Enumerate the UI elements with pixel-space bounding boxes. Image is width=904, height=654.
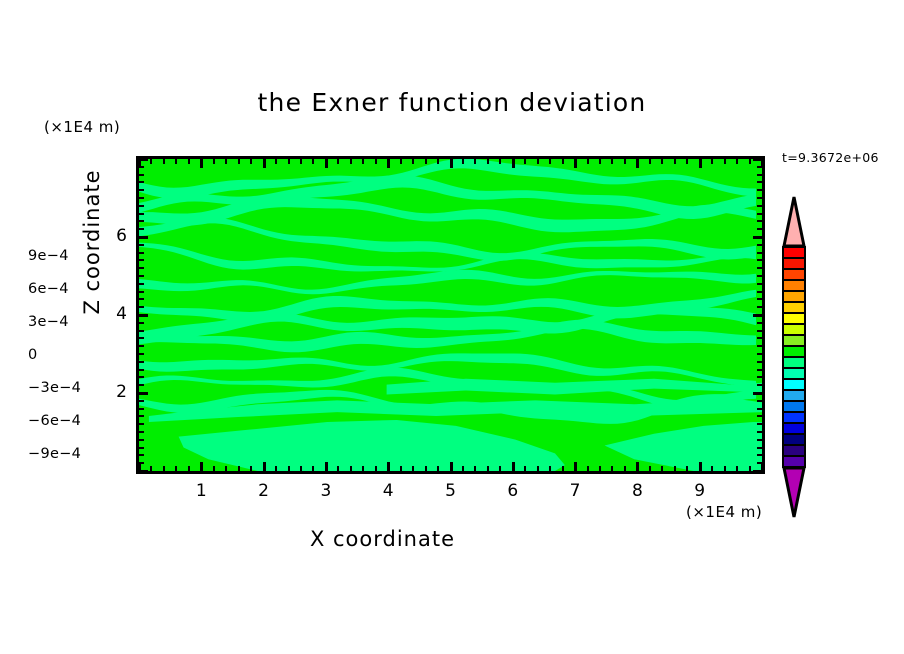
y-tick-mark (139, 392, 148, 395)
y-tick-mark (139, 470, 148, 473)
y-tick-mark (139, 462, 144, 464)
x-tick-mark (288, 159, 290, 164)
colorbar-tick-label: 3e−4 (28, 314, 69, 330)
x-tick-mark (674, 466, 676, 471)
x-tick-mark (163, 466, 165, 471)
x-tick-mark (462, 466, 464, 471)
x-tick-mark (487, 159, 489, 164)
x-tick-label: 3 (311, 481, 341, 501)
x-tick-label: 9 (685, 481, 715, 501)
x-tick-mark (562, 159, 564, 164)
colorbar-tick-label: −6e−4 (28, 413, 81, 429)
x-tick-mark (574, 462, 577, 471)
x-axis-unit-label: (×1E4 m) (686, 503, 762, 521)
y-tick-mark (139, 345, 144, 347)
x-tick-mark (412, 466, 414, 471)
x-axis-title: X coordinate (0, 527, 765, 551)
y-tick-mark (139, 228, 144, 230)
x-tick-label: 6 (498, 481, 528, 501)
colorbar-divider (782, 433, 806, 435)
x-tick-mark (387, 159, 390, 168)
x-tick-mark (711, 159, 713, 164)
x-tick-mark (474, 466, 476, 471)
y-tick-mark (757, 174, 762, 176)
x-tick-mark (238, 159, 240, 164)
y-tick-mark (757, 462, 762, 464)
x-tick-mark (387, 462, 390, 471)
x-tick-mark (450, 462, 453, 471)
x-tick-mark (337, 159, 339, 164)
x-tick-mark (362, 159, 364, 164)
x-tick-mark (412, 159, 414, 164)
colorbar-divider (782, 290, 806, 292)
y-tick-mark (753, 314, 762, 317)
colorbar-tick-label: 9e−4 (28, 248, 69, 264)
x-tick-mark (724, 159, 726, 164)
x-tick-mark (437, 159, 439, 164)
y-tick-mark (757, 415, 762, 417)
x-tick-label: 5 (436, 481, 466, 501)
colorbar-divider (782, 268, 806, 270)
colorbar-divider (782, 301, 806, 303)
y-tick-mark (757, 181, 762, 183)
colorbar (782, 247, 806, 467)
x-tick-mark (188, 159, 190, 164)
y-tick-mark (139, 252, 144, 254)
contour-plot-area (136, 156, 765, 474)
x-tick-mark (250, 159, 252, 164)
colorbar-divider (782, 312, 806, 314)
x-tick-mark (537, 159, 539, 164)
colorbar-over-arrow (782, 195, 806, 247)
y-tick-mark (757, 283, 762, 285)
x-tick-mark (225, 159, 227, 164)
y-tick-mark (757, 376, 762, 378)
y-tick-mark (757, 220, 762, 222)
y-tick-mark (757, 454, 762, 456)
y-tick-mark (139, 322, 144, 324)
y-tick-mark (139, 291, 144, 293)
x-tick-mark (674, 159, 676, 164)
x-tick-mark (400, 159, 402, 164)
colorbar-divider (782, 279, 806, 281)
y-tick-mark (139, 447, 144, 449)
colorbar-divider (782, 400, 806, 402)
x-tick-mark (549, 159, 551, 164)
x-tick-label: 8 (622, 481, 652, 501)
y-tick-mark (139, 423, 144, 425)
colorbar-divider (782, 389, 806, 391)
contour-field (139, 159, 762, 471)
x-tick-mark (562, 466, 564, 471)
x-tick-mark (686, 466, 688, 471)
y-tick-mark (139, 259, 144, 261)
x-tick-mark (275, 466, 277, 471)
x-tick-mark (524, 466, 526, 471)
x-tick-mark (312, 466, 314, 471)
x-tick-mark (263, 159, 266, 168)
x-tick-mark (375, 466, 377, 471)
x-tick-mark (661, 466, 663, 471)
x-tick-mark (487, 466, 489, 471)
x-tick-mark (213, 466, 215, 471)
colorbar-tick-label: −3e−4 (28, 380, 81, 396)
x-tick-mark (462, 159, 464, 164)
x-tick-mark (524, 159, 526, 164)
y-tick-mark (139, 275, 144, 277)
y-tick-mark (757, 345, 762, 347)
x-tick-mark (587, 466, 589, 471)
y-tick-mark (139, 369, 144, 371)
y-tick-mark (757, 197, 762, 199)
y-tick-mark (139, 314, 148, 317)
x-tick-mark (649, 159, 651, 164)
y-tick-mark (757, 431, 762, 433)
timestamp-annotation: t=9.3672e+06 (782, 150, 879, 165)
y-tick-mark (757, 408, 762, 410)
y-tick-label: 6 (97, 226, 127, 246)
x-tick-mark (636, 462, 639, 471)
x-tick-mark (150, 466, 152, 471)
x-tick-mark (474, 159, 476, 164)
x-tick-mark (350, 466, 352, 471)
y-tick-mark (757, 189, 762, 191)
x-tick-mark (163, 159, 165, 164)
y-tick-mark (757, 361, 762, 363)
y-tick-mark (139, 197, 144, 199)
x-tick-mark (437, 466, 439, 471)
y-tick-mark (139, 415, 144, 417)
x-tick-mark (300, 466, 302, 471)
x-tick-mark (200, 159, 203, 168)
x-tick-mark (325, 159, 328, 168)
y-tick-mark (139, 439, 144, 441)
y-tick-mark (139, 283, 144, 285)
colorbar-divider (782, 444, 806, 446)
x-tick-mark (225, 466, 227, 471)
y-tick-mark (757, 252, 762, 254)
y-tick-mark (757, 384, 762, 386)
y-tick-mark (139, 236, 148, 239)
x-tick-mark (425, 466, 427, 471)
x-tick-mark (686, 159, 688, 164)
y-tick-mark (757, 439, 762, 441)
y-tick-mark (757, 447, 762, 449)
x-tick-mark (300, 159, 302, 164)
y-tick-mark (139, 166, 144, 168)
x-tick-mark (699, 159, 702, 168)
x-tick-mark (711, 466, 713, 471)
colorbar-divider (782, 378, 806, 380)
y-tick-mark (753, 392, 762, 395)
x-tick-mark (450, 159, 453, 168)
y-tick-mark (757, 306, 762, 308)
x-tick-mark (661, 159, 663, 164)
y-axis-unit-label: (×1E4 m) (44, 118, 120, 136)
x-tick-mark (200, 462, 203, 471)
y-tick-label: 4 (97, 304, 127, 324)
y-tick-mark (757, 267, 762, 269)
y-tick-mark (139, 174, 144, 176)
y-tick-mark (753, 470, 762, 473)
x-tick-mark (611, 466, 613, 471)
x-tick-label: 7 (560, 481, 590, 501)
y-tick-mark (757, 400, 762, 402)
x-tick-mark (599, 466, 601, 471)
y-tick-mark (753, 158, 762, 161)
x-tick-mark (188, 466, 190, 471)
x-tick-mark (724, 466, 726, 471)
y-tick-mark (757, 423, 762, 425)
colorbar-tick-label: −9e−4 (28, 446, 81, 462)
x-tick-mark (537, 466, 539, 471)
colorbar-divider (782, 422, 806, 424)
y-tick-mark (139, 306, 144, 308)
y-tick-mark (757, 259, 762, 261)
y-tick-mark (757, 213, 762, 215)
x-tick-mark (350, 159, 352, 164)
x-tick-mark (587, 159, 589, 164)
x-tick-mark (512, 462, 515, 471)
colorbar-tick-label: 6e−4 (28, 281, 69, 297)
y-tick-mark (139, 353, 144, 355)
chart-title: the Exner function deviation (0, 88, 904, 117)
y-tick-mark (757, 166, 762, 168)
figure-canvas: the Exner function deviation (×1E4 m) (×… (0, 0, 904, 654)
y-tick-mark (139, 431, 144, 433)
x-tick-mark (624, 159, 626, 164)
y-tick-mark (139, 213, 144, 215)
x-tick-mark (312, 159, 314, 164)
colorbar-divider (782, 411, 806, 413)
y-tick-mark (757, 322, 762, 324)
x-tick-mark (337, 466, 339, 471)
x-tick-mark (499, 159, 501, 164)
x-tick-mark (611, 159, 613, 164)
x-tick-label: 2 (249, 481, 279, 501)
y-tick-mark (139, 205, 144, 207)
y-tick-mark (139, 337, 144, 339)
y-tick-mark (757, 330, 762, 332)
x-tick-mark (749, 159, 751, 164)
y-tick-mark (757, 244, 762, 246)
x-tick-mark (736, 466, 738, 471)
x-tick-mark (749, 466, 751, 471)
y-tick-mark (139, 361, 144, 363)
x-tick-mark (150, 159, 152, 164)
y-tick-mark (757, 275, 762, 277)
x-tick-mark (238, 466, 240, 471)
x-tick-mark (512, 159, 515, 168)
x-tick-mark (175, 466, 177, 471)
x-tick-mark (263, 462, 266, 471)
colorbar-divider (782, 455, 806, 457)
x-tick-mark (288, 466, 290, 471)
y-tick-mark (139, 220, 144, 222)
x-tick-label: 1 (186, 481, 216, 501)
y-tick-label: 2 (97, 382, 127, 402)
y-tick-mark (139, 454, 144, 456)
y-tick-mark (753, 236, 762, 239)
x-tick-mark (375, 159, 377, 164)
x-tick-mark (649, 466, 651, 471)
colorbar-divider (782, 356, 806, 358)
x-tick-mark (400, 466, 402, 471)
y-tick-mark (139, 158, 148, 161)
y-tick-mark (757, 205, 762, 207)
y-tick-mark (139, 400, 144, 402)
x-tick-label: 4 (373, 481, 403, 501)
y-tick-mark (757, 291, 762, 293)
colorbar-divider (782, 257, 806, 259)
y-tick-mark (757, 337, 762, 339)
y-tick-mark (139, 384, 144, 386)
x-tick-mark (599, 159, 601, 164)
colorbar-divider (782, 345, 806, 347)
y-tick-mark (139, 298, 144, 300)
y-tick-mark (757, 228, 762, 230)
x-tick-mark (362, 466, 364, 471)
y-tick-mark (139, 189, 144, 191)
y-tick-mark (757, 298, 762, 300)
colorbar-divider (782, 334, 806, 336)
x-tick-mark (250, 466, 252, 471)
colorbar-tick-label: 0 (28, 347, 38, 363)
x-tick-mark (499, 466, 501, 471)
y-tick-mark (757, 369, 762, 371)
y-tick-mark (139, 267, 144, 269)
colorbar-divider (782, 367, 806, 369)
colorbar-divider (782, 323, 806, 325)
x-tick-mark (275, 159, 277, 164)
y-tick-mark (139, 376, 144, 378)
y-tick-mark (139, 181, 144, 183)
y-tick-mark (139, 244, 144, 246)
x-tick-mark (325, 462, 328, 471)
x-tick-mark (736, 159, 738, 164)
x-tick-mark (425, 159, 427, 164)
x-tick-mark (574, 159, 577, 168)
y-tick-mark (139, 330, 144, 332)
colorbar-under-arrow (782, 467, 806, 519)
y-tick-mark (139, 408, 144, 410)
y-tick-mark (757, 353, 762, 355)
x-tick-mark (699, 462, 702, 471)
x-tick-mark (213, 159, 215, 164)
x-tick-mark (624, 466, 626, 471)
x-tick-mark (549, 466, 551, 471)
x-tick-mark (636, 159, 639, 168)
x-tick-mark (175, 159, 177, 164)
